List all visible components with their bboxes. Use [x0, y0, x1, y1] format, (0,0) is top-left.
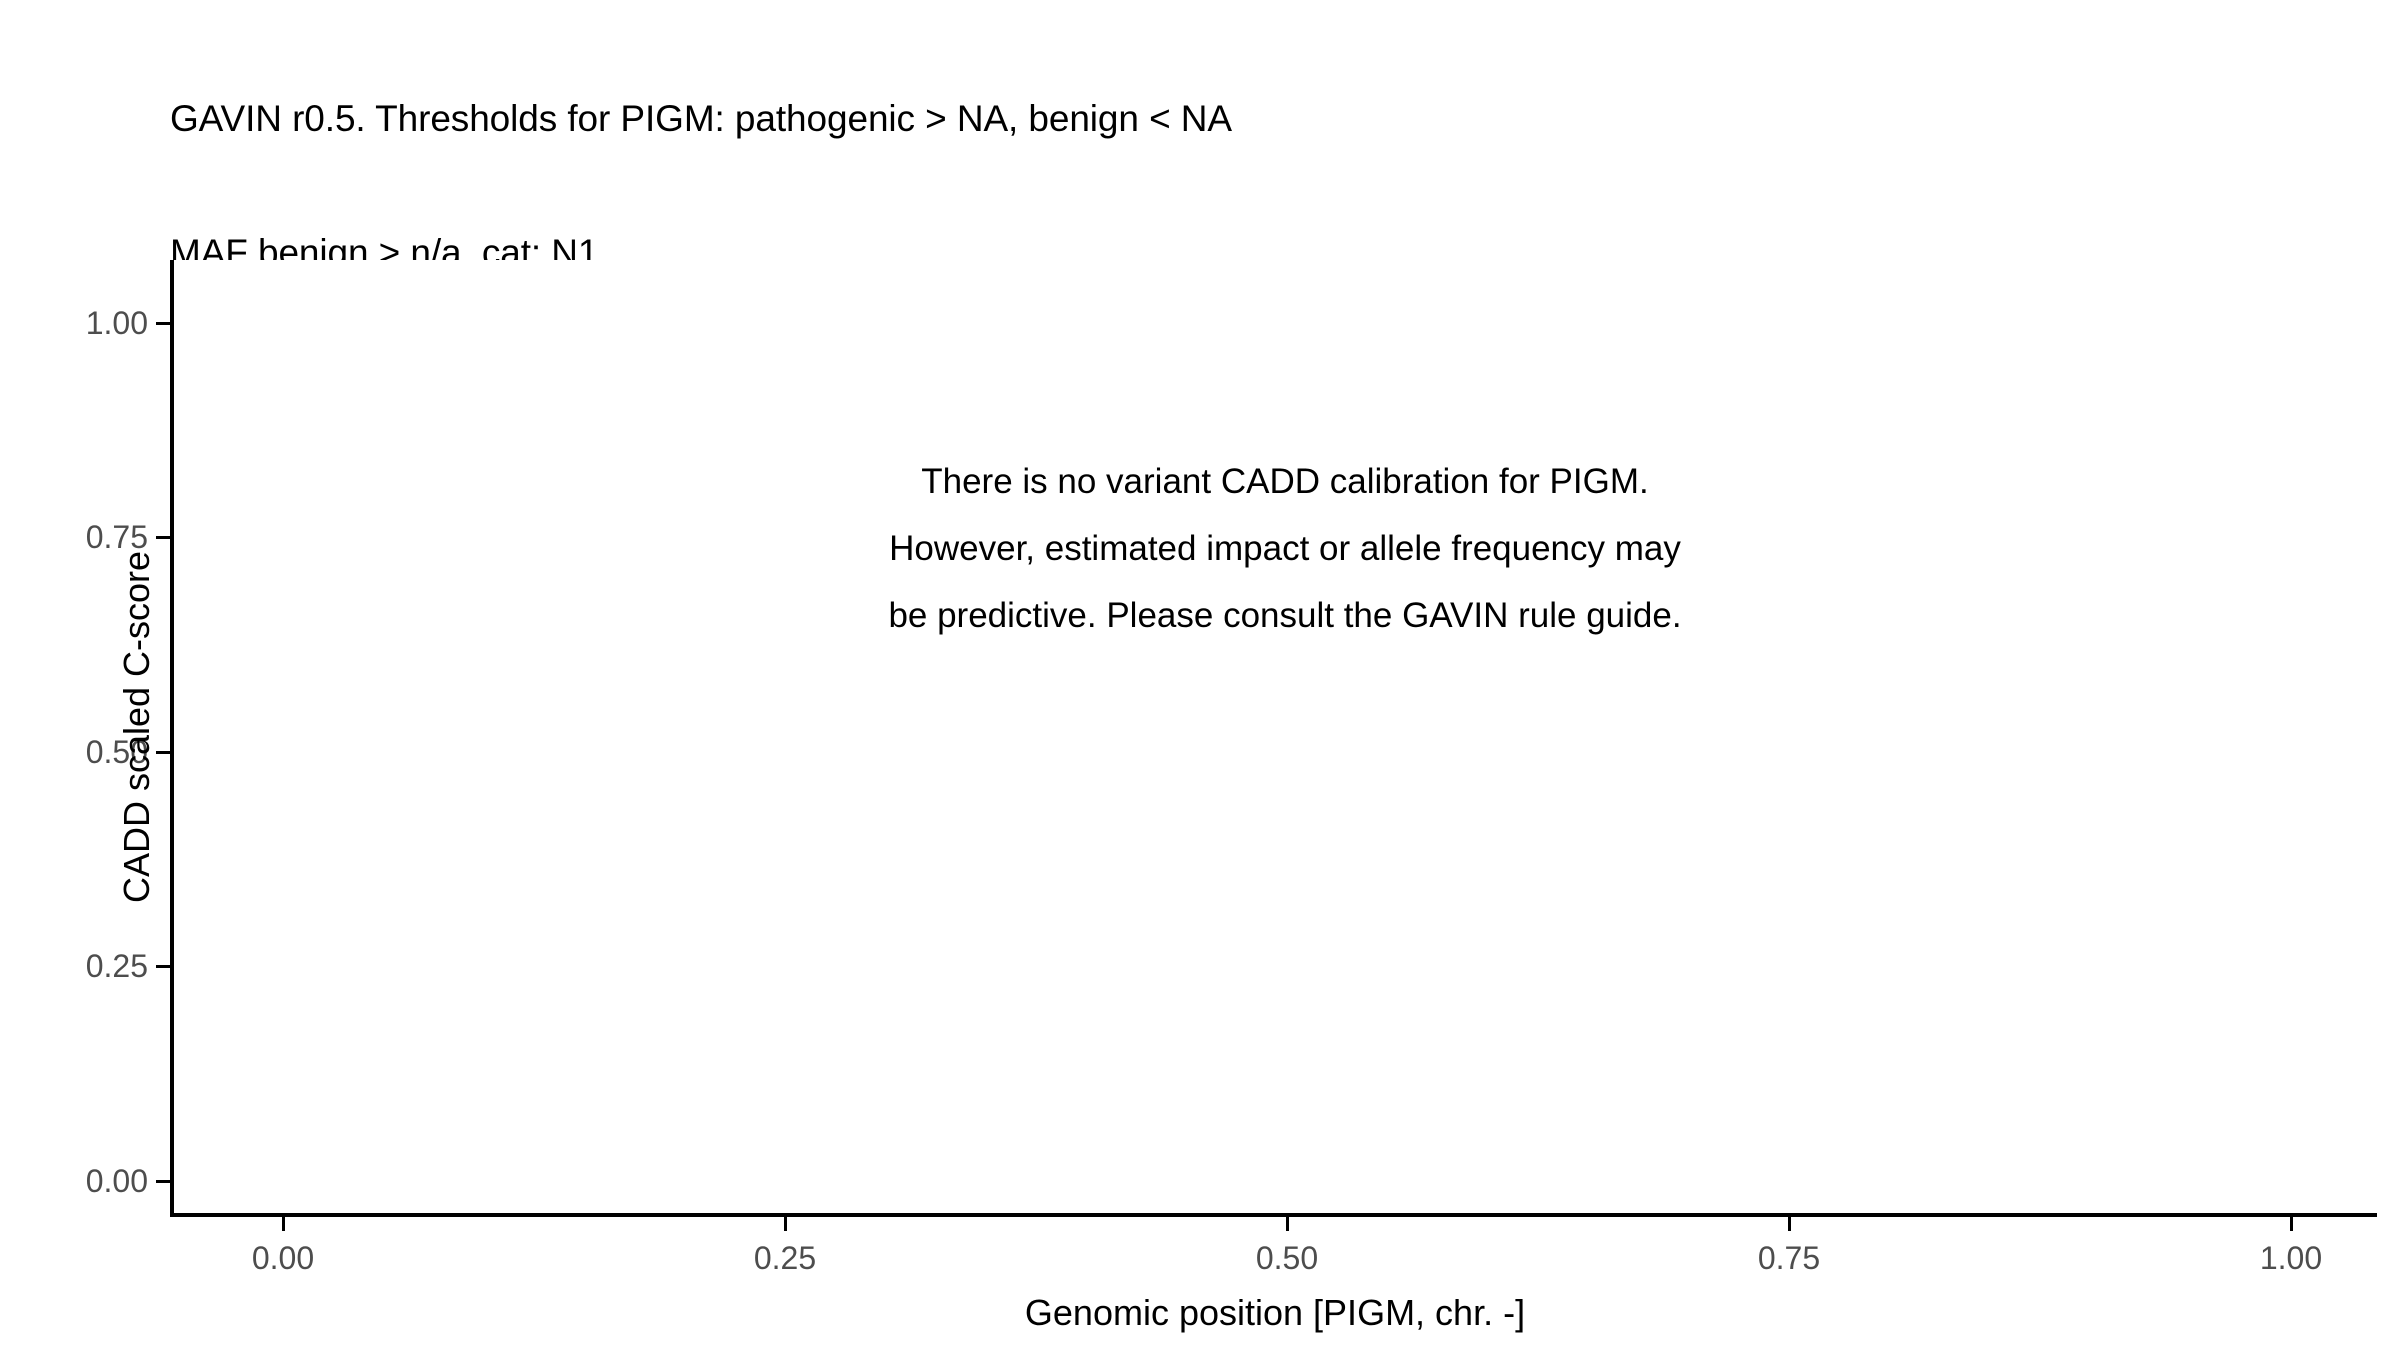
y-tick-mark-2	[156, 751, 170, 754]
y-axis-line	[170, 260, 174, 1217]
x-tick-mark-0	[282, 1217, 285, 1231]
x-tick-label-0: 0.00	[193, 1240, 373, 1277]
x-tick-label-2: 0.50	[1197, 1240, 1377, 1277]
no-calibration-annotation: There is no variant CADD calibration for…	[285, 448, 2285, 649]
plot-panel: There is no variant CADD calibration for…	[173, 260, 2377, 1214]
y-tick-mark-1	[156, 965, 170, 968]
x-tick-mark-1	[784, 1217, 787, 1231]
y-tick-mark-0	[156, 1180, 170, 1183]
chart-title-line-1: GAVIN r0.5. Thresholds for PIGM: pathoge…	[170, 97, 2170, 142]
y-axis-title: CADD scaled C-score	[116, 247, 158, 1207]
y-tick-mark-3	[156, 536, 170, 539]
x-axis-title: Genomic position [PIGM, chr. -]	[173, 1292, 2377, 1334]
annotation-line-2: However, estimated impact or allele freq…	[285, 515, 2285, 582]
annotation-line-3: be predictive. Please consult the GAVIN …	[285, 582, 2285, 649]
annotation-line-1: There is no variant CADD calibration for…	[285, 448, 2285, 515]
x-tick-mark-3	[1788, 1217, 1791, 1231]
x-tick-label-4: 1.00	[2201, 1240, 2381, 1277]
chart-canvas: GAVIN r0.5. Thresholds for PIGM: pathoge…	[0, 0, 2400, 1350]
x-tick-label-1: 0.25	[695, 1240, 875, 1277]
x-tick-label-3: 0.75	[1699, 1240, 1879, 1277]
y-tick-mark-4	[156, 322, 170, 325]
x-axis-line	[170, 1213, 2377, 1217]
x-tick-mark-4	[2290, 1217, 2293, 1231]
x-tick-mark-2	[1286, 1217, 1289, 1231]
